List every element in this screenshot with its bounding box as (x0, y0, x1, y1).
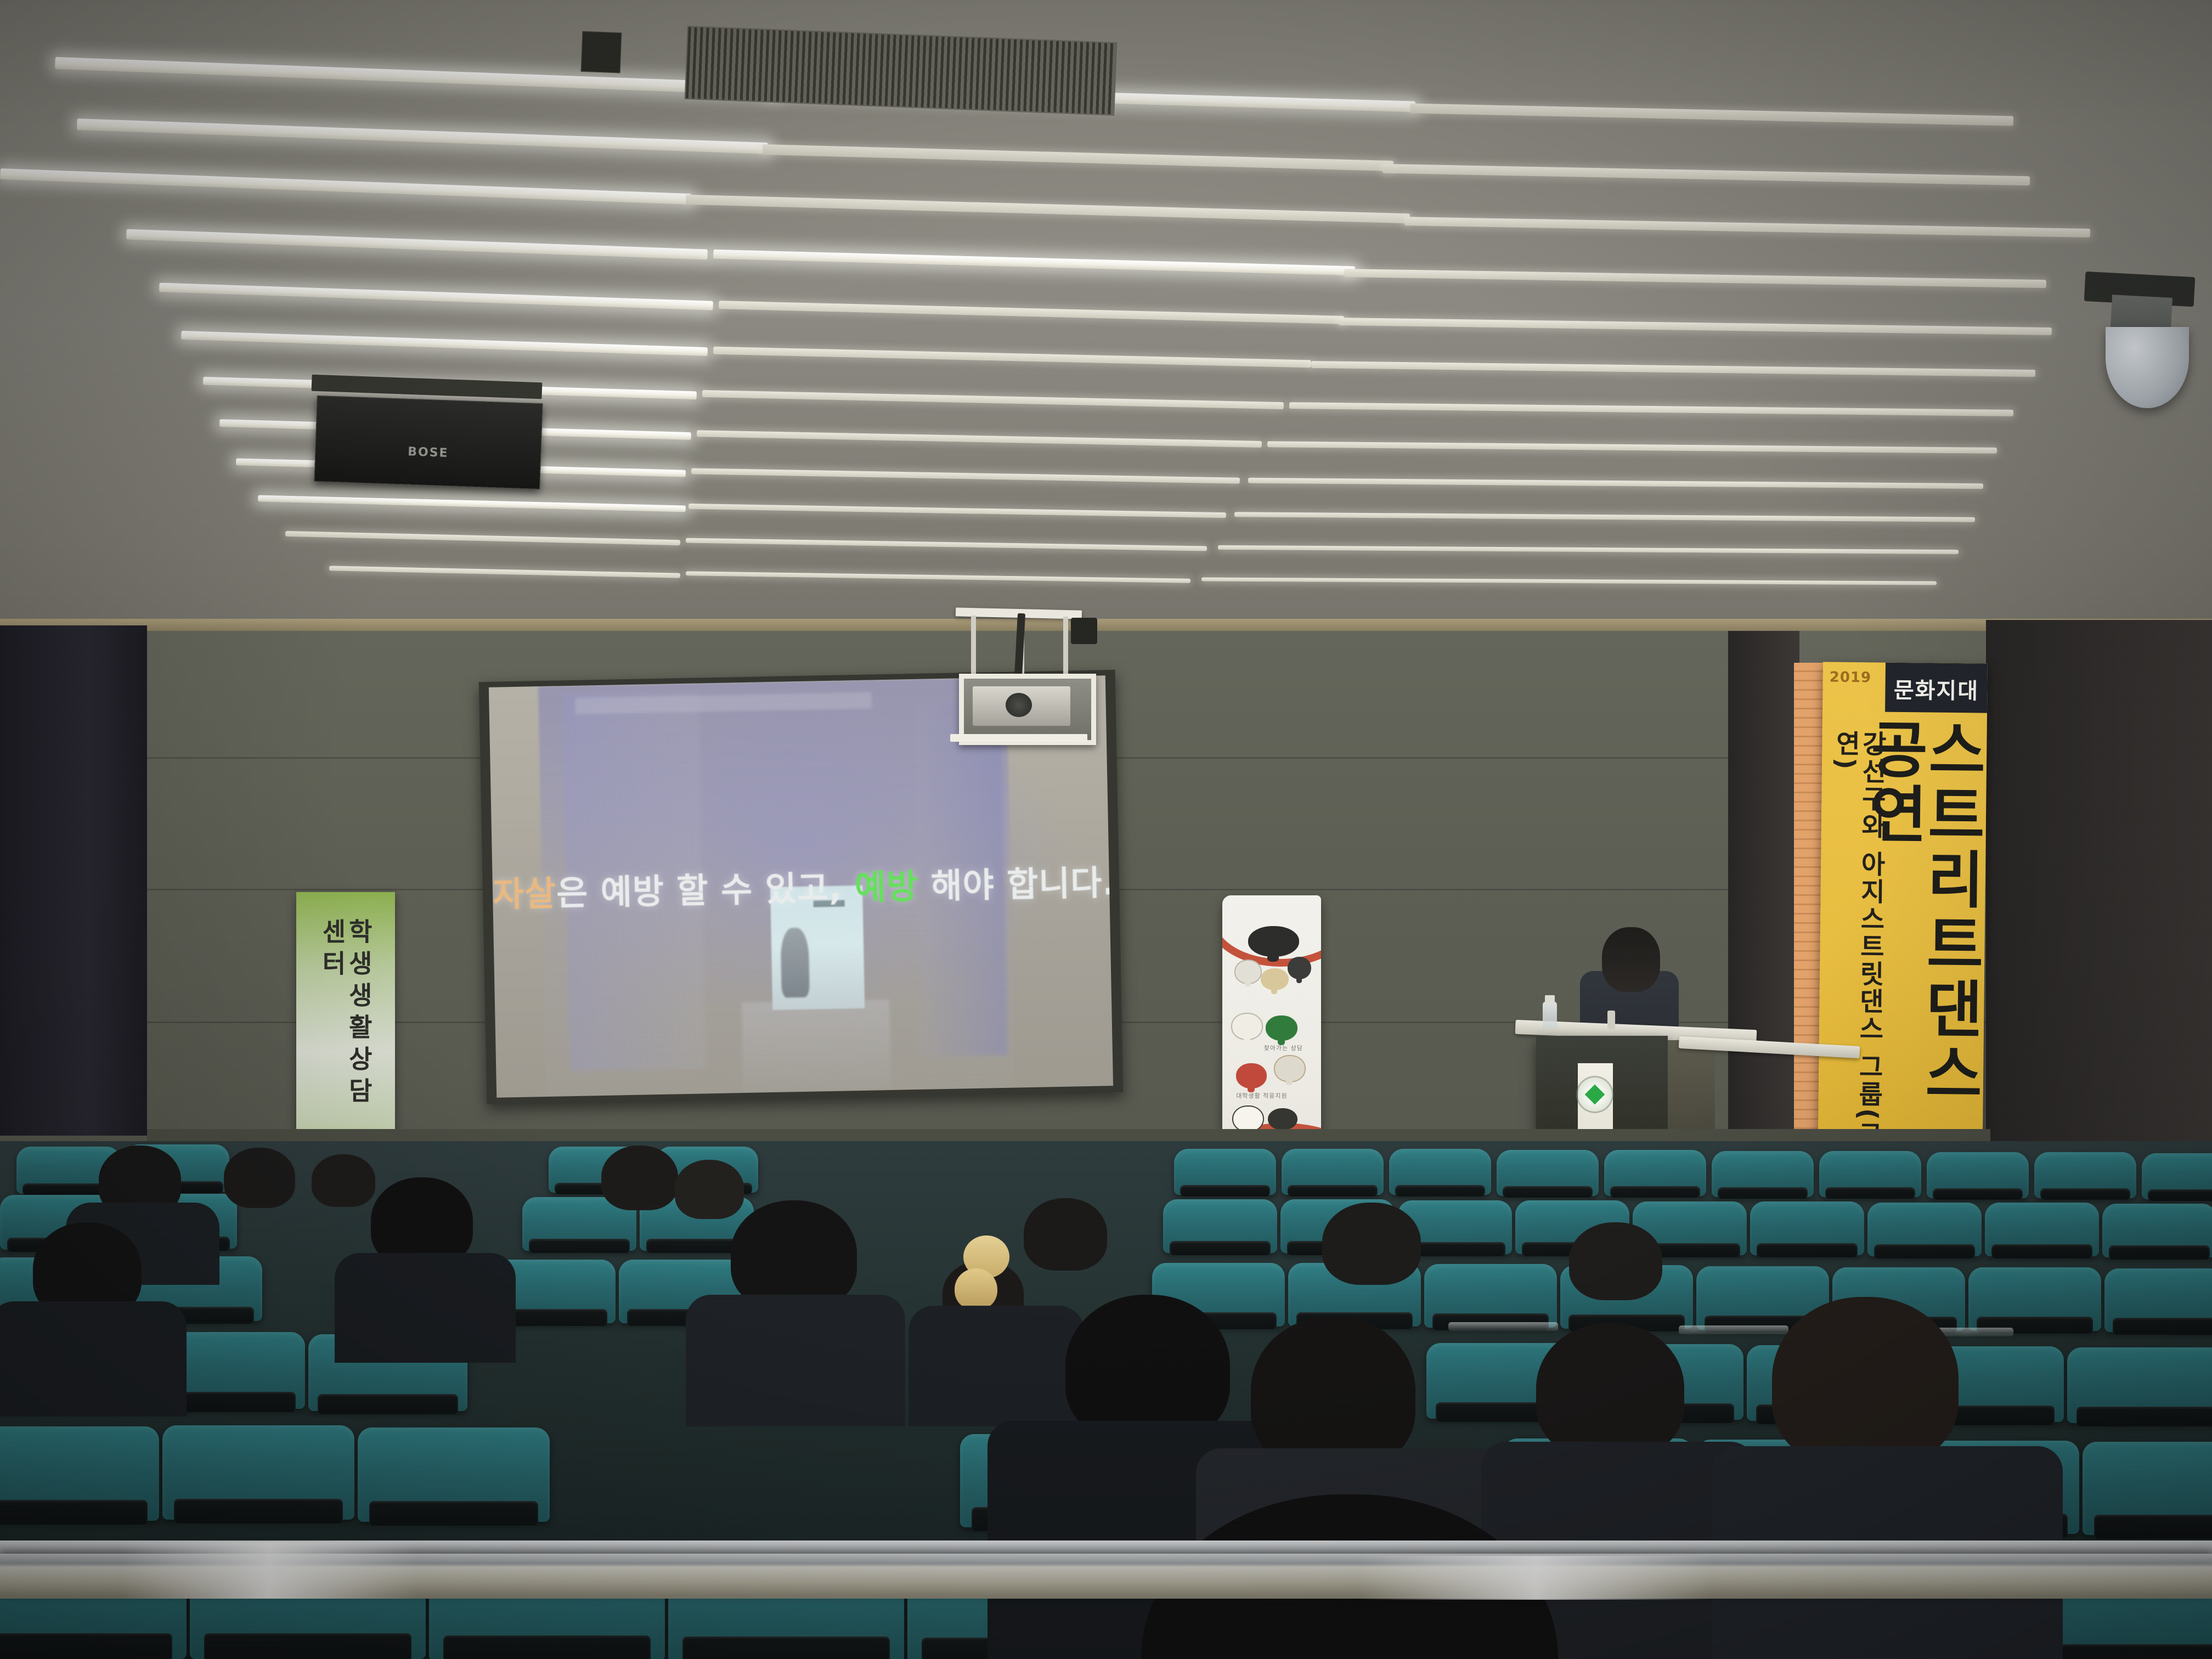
speech-bubble (1274, 1055, 1306, 1082)
auditorium-seat[interactable] (1712, 1151, 1814, 1197)
ceiling: BOSE BOSE BOSE (0, 0, 2212, 708)
auditorium-seat[interactable] (1389, 1149, 1491, 1195)
audience-head (1251, 1317, 1415, 1470)
speech-bubble (1234, 960, 1262, 984)
audience-head (731, 1200, 857, 1310)
seat-cushion-gloss (1448, 1322, 1558, 1331)
ceiling-light-strip (1404, 217, 2090, 238)
ceiling-light-strip (77, 119, 768, 154)
ceiling-light-strip (1383, 164, 2030, 186)
audience-head (224, 1148, 295, 1208)
banner-right-wrap: 문화지대 2019 스트리트댄스 공연 강선구와 아지스트릿댄스 그룹(공연) … (1818, 662, 1988, 1184)
ceiling-light-strip (1201, 577, 1937, 585)
ceiling-light-strip (285, 531, 680, 545)
slide-caption-highlight-1: 자살 (492, 873, 556, 915)
water-bottle-cap (1545, 995, 1555, 1003)
ceiling-light-strip (686, 538, 1207, 551)
auditorium-seat[interactable] (2083, 1442, 2212, 1535)
audience-shoulders (909, 1306, 1084, 1426)
slide-caption-plain-1: 은 예방 할 수 있고, (556, 868, 843, 913)
ceiling-light-strip (1410, 103, 2013, 126)
auditorium-seat[interactable] (2104, 1268, 2212, 1332)
auditorium-photo: BOSE BOSE BOSE (0, 0, 2212, 1659)
banner-center-caption-2: 대학생활 적응지원 (1236, 1091, 1287, 1100)
audience-head (1024, 1198, 1107, 1271)
speech-bubble (1266, 1015, 1297, 1041)
audience-head (312, 1154, 375, 1207)
audience-head (601, 1145, 678, 1210)
auditorium-seat[interactable] (1163, 1199, 1277, 1253)
ceiling-light-strip (0, 168, 691, 205)
ceiling-light-strip (697, 430, 1262, 448)
slide-figure (780, 928, 810, 998)
banner-right: 문화지대 2019 스트리트댄스 공연 강선구와 아지스트릿댄스 그룹(공연) … (1818, 662, 1988, 1184)
speaker-brand-label: BOSE (408, 445, 449, 460)
ceiling-light-strip (159, 283, 713, 310)
speech-bubble (1288, 957, 1311, 979)
ceiling-light-strip (713, 250, 1355, 276)
banner-center-caption-1: 찾아가는 상담 (1264, 1043, 1303, 1052)
auditorium-seat[interactable] (1867, 1203, 1982, 1256)
ceiling-light-strip (1289, 402, 2013, 416)
audience-head (1569, 1222, 1662, 1300)
banner-right-header-label: 문화지대 (1894, 673, 1979, 706)
ceiling-light-strip (719, 301, 1344, 324)
speech-bubble-title (1248, 926, 1300, 957)
auditorium-seat[interactable] (1927, 1152, 2029, 1198)
banner-right-header: 문화지대 (1885, 663, 1988, 713)
auditorium-seat[interactable] (2142, 1153, 2212, 1199)
ceiling-light-strip (689, 504, 1226, 518)
speech-bubble (1232, 1105, 1264, 1133)
stage-curtain-left (0, 625, 147, 1136)
hvac-vent-icon (685, 26, 1118, 116)
front-rail-highlight (1361, 1556, 1712, 1600)
speech-bubble (1231, 1013, 1263, 1040)
banner-right-year: 2019 (1830, 669, 1872, 686)
podium-microphone-icon (1607, 1011, 1615, 1029)
ceiling-light-strip (126, 229, 708, 260)
ceiling-light-strip (686, 571, 1190, 583)
ceiling-light-strip (258, 495, 686, 512)
ceiling-light-strip (691, 468, 1240, 483)
ceiling-light-strip (329, 566, 680, 578)
projector-lens-icon (1006, 693, 1032, 717)
ceiling-light-strip (181, 331, 708, 356)
slide-caption-plain-2: 해야 합니다. (930, 862, 1113, 906)
auditorium-seat[interactable] (358, 1427, 550, 1522)
audience-shoulders (686, 1295, 905, 1426)
audience-shoulders (0, 1301, 187, 1417)
auditorium-seat[interactable] (1819, 1151, 1921, 1197)
banner-left-title: 학생생활상담센터 (319, 918, 373, 1138)
speech-bubble (1236, 1063, 1267, 1088)
ceiling-light-strip (1344, 269, 2046, 288)
ceiling-light-strip (1234, 512, 1975, 522)
auditorium-seat[interactable] (1968, 1267, 2101, 1331)
auditorium-seat[interactable] (1282, 1149, 1384, 1195)
dome-light-icon (2106, 327, 2189, 408)
ceiling-light-strip (1218, 545, 1959, 554)
audience-head (1772, 1297, 1959, 1467)
ceiling-speaker-bose: BOSE (314, 396, 543, 489)
auditorium-seat[interactable] (2102, 1204, 2212, 1257)
ceiling-light-strip (1248, 478, 1983, 489)
auditorium-seat[interactable] (162, 1425, 354, 1520)
auditorium-seat[interactable] (1750, 1201, 1864, 1255)
speaker-bracket (312, 375, 543, 399)
speech-bubble (1261, 968, 1288, 991)
audience-shoulders (335, 1253, 516, 1363)
ceiling-camera-icon (1071, 618, 1097, 644)
ceiling-light-strip (1339, 318, 2052, 335)
auditorium-seat[interactable] (1985, 1203, 2099, 1256)
presenter-head (1602, 927, 1660, 992)
slide-caption-highlight-2: 예방 (854, 866, 918, 907)
auditorium-seat[interactable] (1424, 1264, 1557, 1328)
ceiling-light-strip (713, 347, 1311, 368)
projector-hanger-rod (971, 616, 976, 676)
auditorium-seat[interactable] (2034, 1152, 2136, 1198)
audience-head (1536, 1323, 1684, 1458)
wall-recess-right (1728, 631, 1799, 1136)
ceiling-light-strip (702, 390, 1284, 409)
ceiling-light-strip (763, 144, 1393, 171)
front-rail-highlight (121, 1542, 417, 1599)
stage-curtain-right (1986, 620, 2212, 1147)
ceiling-light-strip (1311, 361, 2035, 377)
audience-head (675, 1160, 744, 1219)
ceiling-light-strip (1267, 441, 1997, 454)
slide-floor (742, 1000, 891, 1093)
podium-emblem-icon (1578, 1077, 1612, 1111)
water-bottle (1543, 1002, 1557, 1029)
ceiling-access-panel-icon (581, 31, 622, 74)
banner-right-subtitle: 강선구와 아지스트릿댄스 그룹(공연) (1827, 730, 1885, 1183)
auditorium-seat[interactable] (1497, 1150, 1599, 1196)
auditorium-seat[interactable] (1174, 1149, 1276, 1195)
auditorium-seat[interactable] (0, 1426, 159, 1521)
auditorium-seat[interactable] (1604, 1150, 1706, 1196)
audience-head (1322, 1203, 1421, 1285)
speech-bubble (1268, 1108, 1297, 1131)
auditorium-seat[interactable] (2067, 1347, 2212, 1423)
ceiling-light-strip (55, 57, 779, 95)
ceiling-light-strip (686, 195, 1410, 224)
seat-cushion-gloss (1679, 1325, 1788, 1334)
projector-bottom-plate (950, 734, 1087, 742)
projector-hanger-rod (1063, 617, 1068, 676)
hair-bun-blonde-tail (955, 1268, 997, 1310)
